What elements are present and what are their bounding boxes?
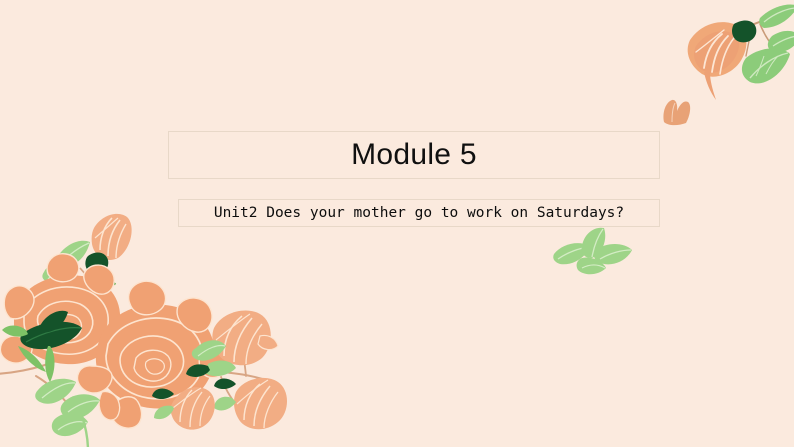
orange-rosebud-branch-decoration (660, 0, 794, 126)
page-title: Module 5 (351, 138, 477, 172)
slide-canvas: Module 5 Unit2 Does your mother go to wo… (0, 0, 794, 447)
peony-floral-corner-decoration (0, 206, 306, 447)
green-mint-leaf-cluster-decoration (548, 226, 636, 278)
title-box: Module 5 (168, 131, 660, 179)
subtitle-box: Unit2 Does your mother go to work on Sat… (178, 199, 660, 227)
small-orange-petal-decoration (658, 96, 694, 128)
page-subtitle: Unit2 Does your mother go to work on Sat… (214, 205, 624, 221)
